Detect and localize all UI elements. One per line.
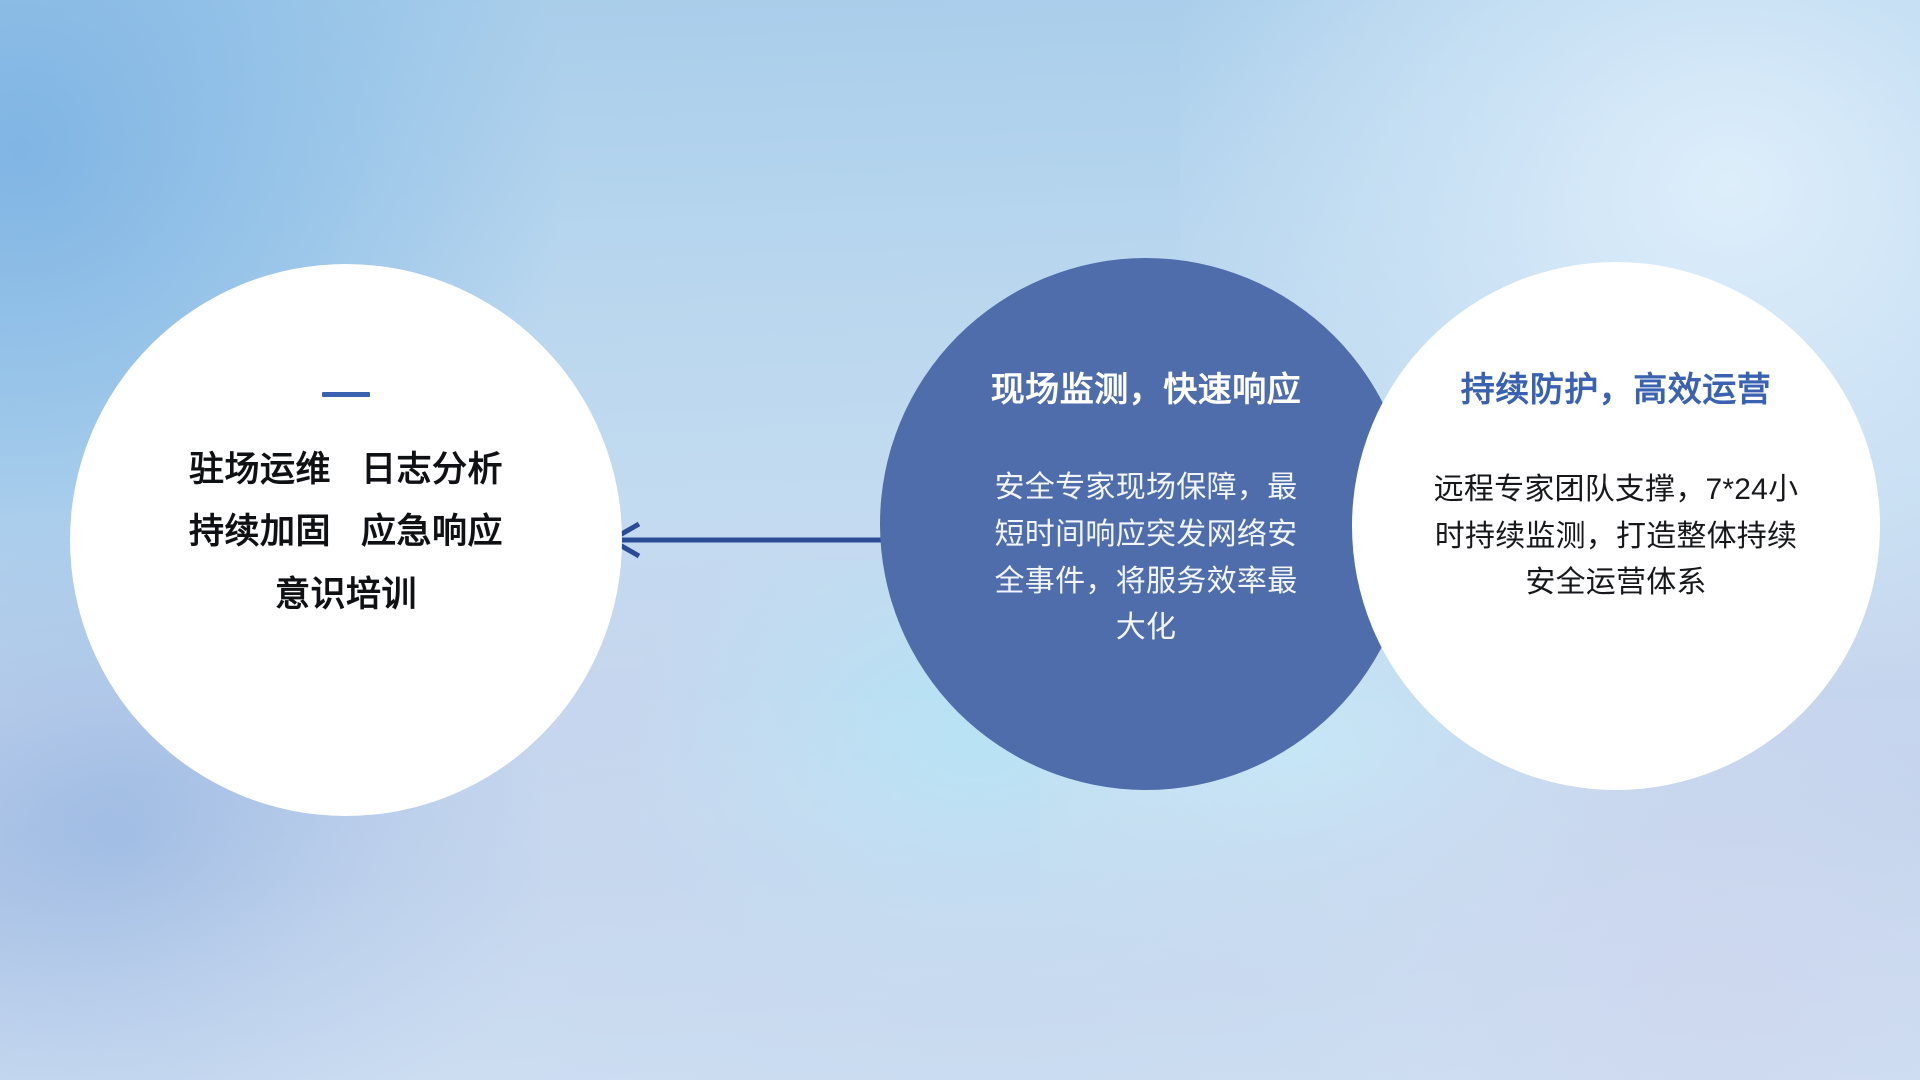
service-tag-list: 驻场运维日志分析 持续加固应急响应 意识培训 (189, 439, 503, 626)
service-tag: 持续加固 (189, 512, 331, 551)
card-continuous-protection-body: 远程专家团队支撑，7*24小时持续监测，打造整体持续安全运营体系 (1421, 467, 1811, 607)
service-tag-row: 持续加固应急响应 (189, 501, 503, 563)
card-onsite-monitoring: 现场监测，快速响应 安全专家现场保障，最短时间响应突发网络安全事件，将服务效率最… (880, 258, 1412, 790)
service-tag-row: 驻场运维日志分析 (189, 439, 503, 501)
card-continuous-protection: 持续防护，高效运营 远程专家团队支撑，7*24小时持续监测，打造整体持续安全运营… (1352, 262, 1880, 790)
service-tag: 意识培训 (275, 575, 417, 614)
blue-dash-divider (322, 392, 370, 397)
card-service-capabilities: 驻场运维日志分析 持续加固应急响应 意识培训 (70, 264, 622, 816)
service-tag: 驻场运维 (189, 450, 331, 489)
service-tag-row: 意识培训 (189, 564, 503, 626)
service-tag: 日志分析 (361, 450, 503, 489)
card-continuous-protection-title: 持续防护，高效运营 (1461, 362, 1772, 411)
card-onsite-monitoring-body: 安全专家现场保障，最短时间响应突发网络安全事件，将服务效率最大化 (981, 465, 1311, 652)
card-onsite-monitoring-title: 现场监测，快速响应 (991, 362, 1302, 411)
service-tag: 应急响应 (361, 512, 503, 551)
left-arrow-icon (595, 518, 885, 562)
